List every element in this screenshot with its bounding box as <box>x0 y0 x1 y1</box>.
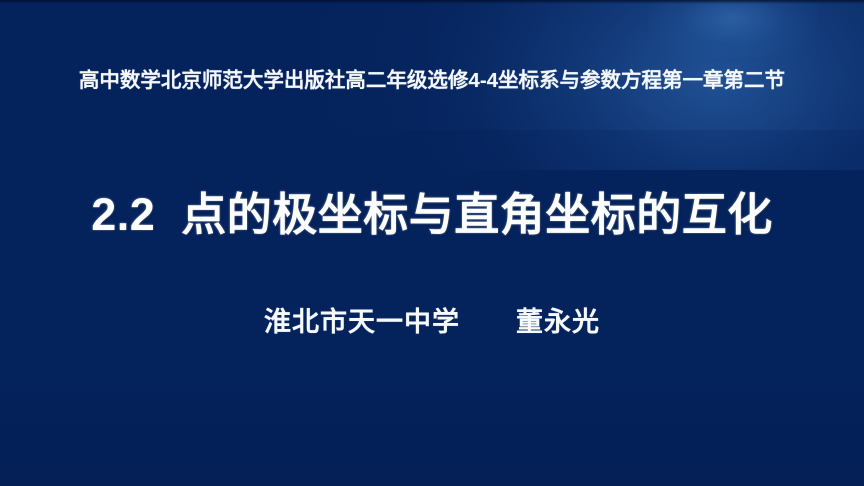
bottom-vignette <box>0 366 864 486</box>
background-glow-wide <box>300 0 864 130</box>
slide-main-title: 2.2 点的极坐标与直角坐标的互化 <box>0 186 864 244</box>
background-glow-highlight <box>648 0 818 58</box>
top-edge-band <box>0 0 864 4</box>
presentation-title-slide: 高中数学北京师范大学出版社高二年级选修4-4坐标系与参数方程第一章第二节 2.2… <box>0 0 864 486</box>
slide-subtitle: 高中数学北京师范大学出版社高二年级选修4-4坐标系与参数方程第一章第二节 <box>0 68 864 94</box>
slide-author-line: 淮北市天一中学 董永光 <box>0 304 864 340</box>
